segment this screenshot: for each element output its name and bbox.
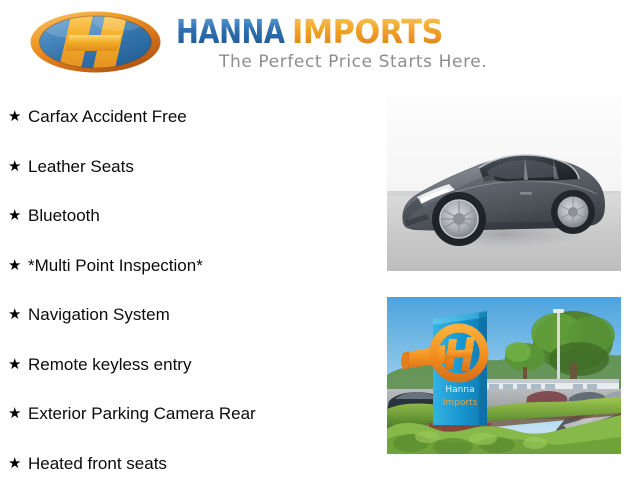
vehicle-photo[interactable] [387,95,621,271]
list-item-label: Leather Seats [28,157,134,176]
star-icon: ★ [8,389,21,439]
svg-text:Hanna: Hanna [445,385,474,395]
list-item-label: Bluetooth [28,206,100,225]
list-item: ★ Bluetooth [0,191,380,241]
list-item: ★ Carfax Accident Free [0,92,380,142]
star-icon: ★ [8,439,21,488]
list-item: ★ Heated front seats [0,439,380,488]
list-item-label: Heated front seats [28,454,167,473]
vehicle-features-list: ★ Carfax Accident Free ★ Leather Seats ★… [0,92,380,480]
star-icon: ★ [8,340,21,390]
list-item-label: Exterior Parking Camera Rear [28,404,256,423]
hanna-imports-logo-emblem-icon [29,11,162,73]
list-item: ★ Remote keyless entry [0,340,380,390]
star-icon: ★ [8,191,21,241]
star-icon: ★ [8,142,21,192]
brand-wordmark: HANNAIMPORTS [176,14,456,50]
star-icon: ★ [8,290,21,340]
list-item: ★ Exterior Parking Camera Rear [0,389,380,439]
star-icon: ★ [8,241,21,291]
svg-text:Imports: Imports [443,398,478,408]
list-item-label: Remote keyless entry [28,355,191,374]
list-item-label: *Multi Point Inspection* [28,256,203,275]
brand-wordmark-hanna: HANNA [176,14,285,50]
list-item: ★ Navigation System [0,290,380,340]
dealership-photo[interactable]: 3401 Hanna Imports [387,297,621,454]
list-item: ★ Leather Seats [0,142,380,192]
site-header: HANNAIMPORTS The Perfect Price Starts He… [0,0,640,92]
star-icon: ★ [8,92,21,142]
list-item-label: Carfax Accident Free [28,107,187,126]
brand-wordmark-imports: IMPORTS [292,14,443,50]
list-item-label: Navigation System [28,305,170,324]
brand-tagline: The Perfect Price Starts Here. [219,52,487,72]
list-item: ★ *Multi Point Inspection* [0,241,380,291]
